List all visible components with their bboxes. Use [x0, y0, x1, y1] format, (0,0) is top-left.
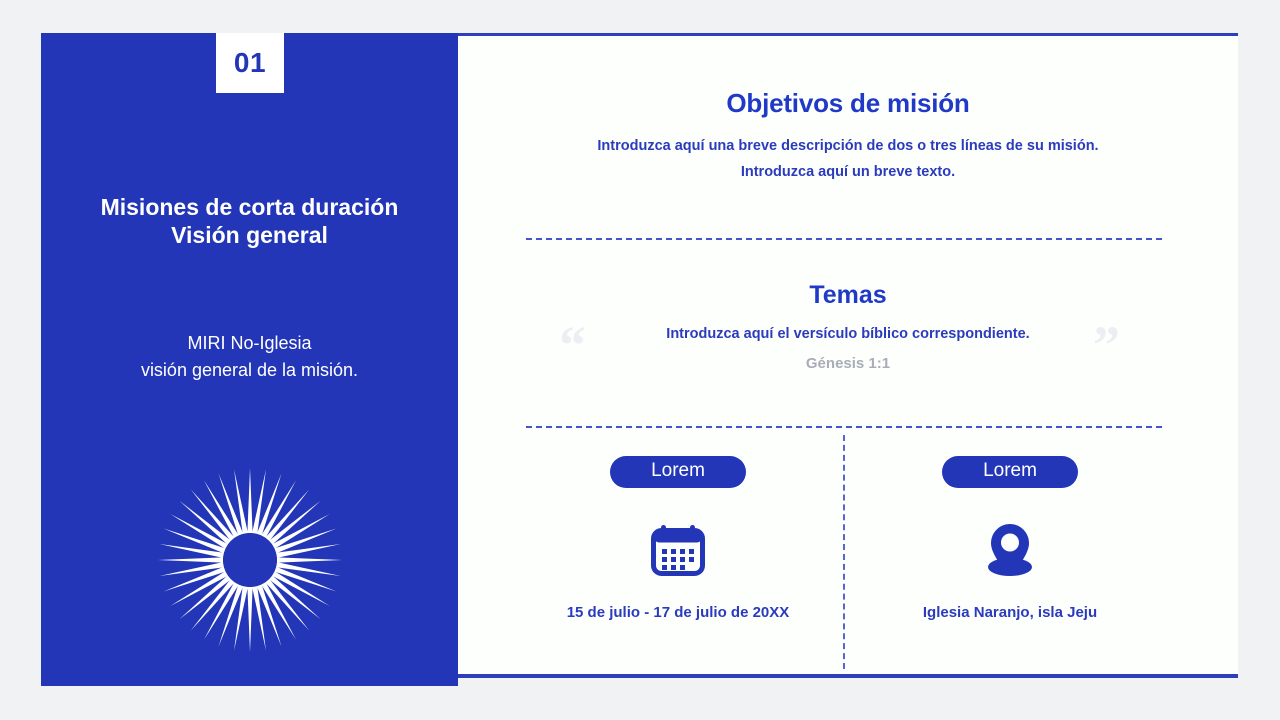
- right-content-panel: Objetivos de misión Introduzca aquí una …: [458, 33, 1238, 678]
- map-pin-icon: [855, 520, 1165, 580]
- objectives-description-line1: Introduzca aquí una breve descripción de…: [458, 134, 1238, 160]
- location-pill-label[interactable]: Lorem: [942, 456, 1078, 488]
- location-caption: Iglesia Naranjo, isla Jeju: [855, 604, 1165, 621]
- date-caption: 15 de julio - 17 de julio de 20XX: [523, 604, 833, 621]
- divider-top: [526, 238, 1162, 240]
- date-pill-label[interactable]: Lorem: [610, 456, 746, 488]
- themes-reference: Génesis 1:1: [458, 355, 1238, 372]
- section-number: 01: [234, 49, 266, 77]
- themes-title: Temas: [458, 281, 1238, 310]
- left-blue-panel: 01 Misiones de corta duración Visión gen…: [41, 33, 458, 686]
- slide-title-line1: Misiones de corta duración: [41, 193, 458, 221]
- info-card-date: Lorem: [523, 456, 833, 621]
- objectives-description: Introduzca aquí una breve descripción de…: [458, 134, 1238, 186]
- divider-vertical: [843, 435, 845, 669]
- slide-title: Misiones de corta duración Visión genera…: [41, 193, 458, 249]
- objectives-description-line2: Introduzca aquí un breve texto.: [458, 160, 1238, 186]
- section-number-badge: 01: [216, 33, 284, 93]
- slide-subtitle: MIRI No-Iglesia visión general de la mis…: [41, 330, 458, 384]
- sunburst-icon: [110, 465, 390, 655]
- slide-canvas: 01 Misiones de corta duración Visión gen…: [0, 0, 1280, 720]
- calendar-icon: [523, 520, 833, 580]
- info-card-location: Lorem Iglesia Naranjo, isla Jeju: [855, 456, 1165, 621]
- slide-title-line2: Visión general: [41, 221, 458, 249]
- objectives-title: Objetivos de misión: [458, 88, 1238, 119]
- themes-verse: Introduzca aquí el versículo bíblico cor…: [458, 326, 1238, 342]
- divider-bottom: [526, 426, 1162, 428]
- slide-subtitle-line1: MIRI No-Iglesia: [41, 330, 458, 357]
- slide-subtitle-line2: visión general de la misión.: [41, 357, 458, 384]
